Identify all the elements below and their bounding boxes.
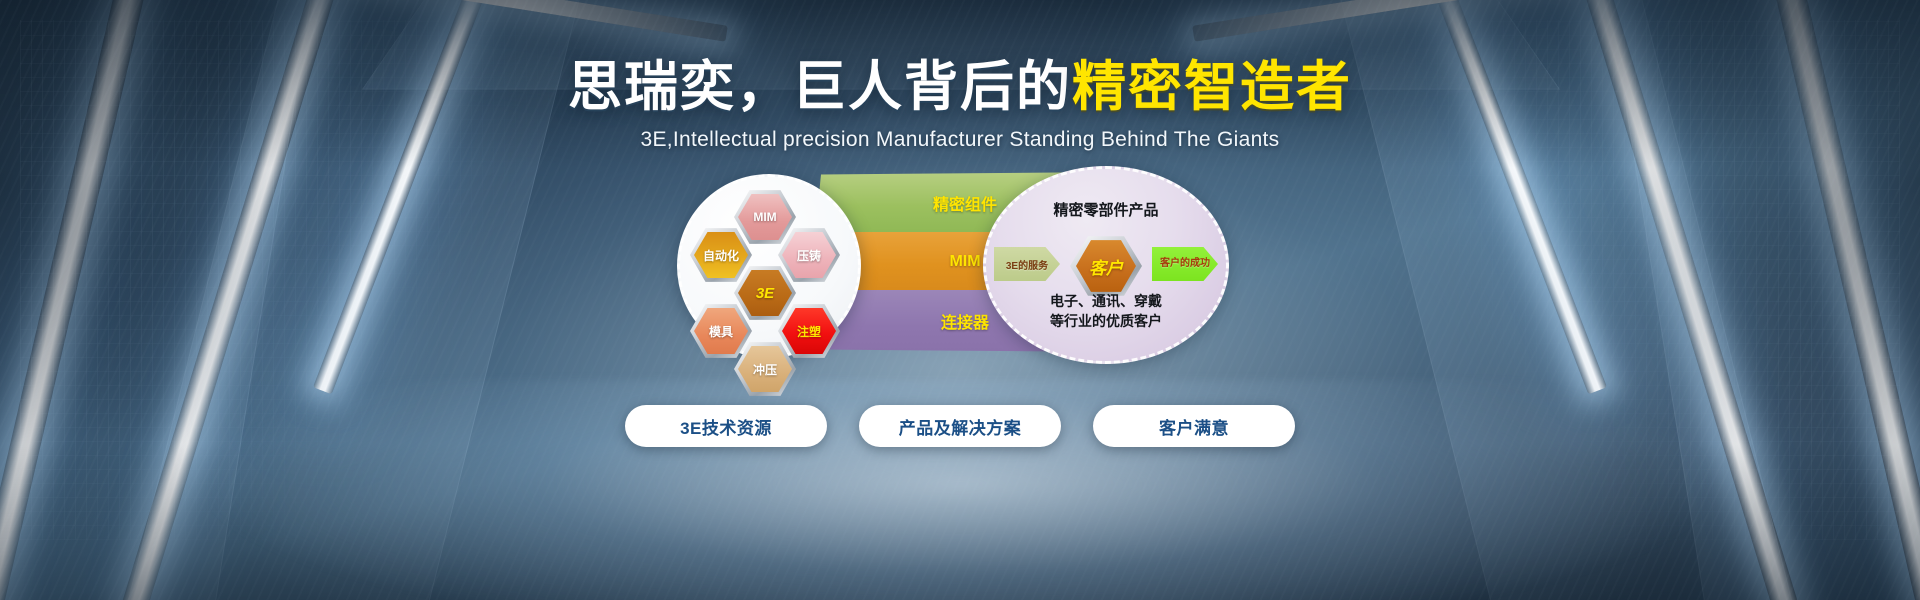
chip-customer-success-line2: 成功 [1190,258,1210,271]
page-title: 思瑞奕，巨人背后的精密智造者 [0,60,1920,114]
cta-button-row: 3E技术资源 产品及解决方案 客户满意 [0,405,1920,447]
page-subtitle: 3E,Intellectual precision Manufacturer S… [0,128,1920,152]
oval-bottom-line1: 电子、通讯、穿戴 [986,291,1226,311]
chip-customer-success: 客户的 成功 [1152,247,1218,281]
banner-stage: 思瑞奕，巨人背后的精密智造者 3E,Intellectual precision… [0,0,1920,600]
button-products-solutions[interactable]: 产品及解决方案 [859,405,1061,447]
oval-title: 精密零部件产品 [986,199,1226,220]
button-customer-satisfaction[interactable]: 客户满意 [1093,405,1295,447]
capability-circle: MIM 自动化 压铸 3E 模具 注塑 [677,174,861,358]
chip-3e-service: 3E的服务 [994,247,1060,281]
customer-oval: 精密零部件产品 3E的服务 客户 客户的 成功 电子、通讯、穿戴 等行业的优质客… [983,166,1229,364]
button-tech-resources[interactable]: 3E技术资源 [625,405,827,447]
title-highlight-part: 精密智造者 [1072,57,1352,117]
oval-bottom-line2: 等行业的优质客户 [986,311,1226,331]
title-white-part: 思瑞奕，巨人背后的 [568,57,1072,117]
oval-bottom-text: 电子、通讯、穿戴 等行业的优质客户 [986,291,1226,332]
chip-customer-success-line1: 客户的 [1160,258,1190,271]
infographic: 精密组件 MIM 连接器 MIM 自动化 压铸 3E [695,172,1225,352]
headline-block: 思瑞奕，巨人背后的精密智造者 3E,Intellectual precision… [0,60,1920,152]
